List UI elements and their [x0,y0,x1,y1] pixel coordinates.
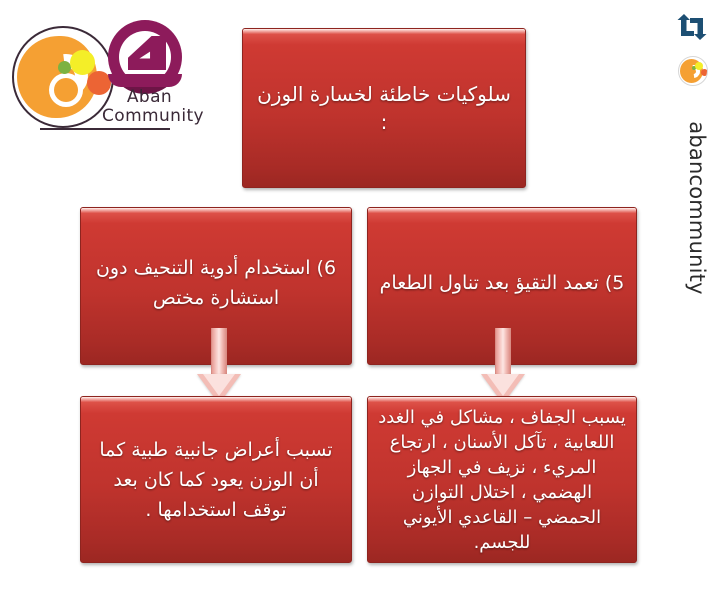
effect-label-item-6: تسبب أعراض جانبية طبية كما أن الوزن يعود… [81,435,351,525]
account-handle[interactable]: abancommunity [685,93,709,323]
retweet-icon[interactable] [674,10,710,44]
logo-dot-yellow-icon [70,50,95,75]
effect-label-item-5: يسبب الجفاف ، مشاكل في الغدد اللعابية ، … [368,405,636,555]
node-label-item-6: 6) استخدام أدوية التنحيف دون استشارة مخت… [81,253,351,313]
avatar[interactable] [678,56,708,86]
slide-canvas: Aban Community abancommunity سلوكيات خاط… [0,0,720,613]
logo-underline [40,128,170,130]
effect-box-item-5: يسبب الجفاف ، مشاكل في الغدد اللعابية ، … [367,396,637,563]
swirl-logo-icon [12,26,114,128]
right-rail: abancommunity [670,6,716,346]
aban-monogram-icon: Aban Community [102,18,194,100]
aban-community-logo: Aban Community [8,12,203,137]
title-box: سلوكيات خاطئة لخسارة الوزن : [242,28,526,188]
down-arrow-icon-left [197,328,241,406]
title-text: سلوكيات خاطئة لخسارة الوزن : [243,80,525,136]
logo-name-line-2: Community [102,107,197,126]
effect-box-item-6: تسبب أعراض جانبية طبية كما أن الوزن يعود… [80,396,352,563]
node-label-item-5: 5) تعمد التقيؤ بعد تناول الطعام [370,268,635,298]
down-arrow-icon-right [481,328,525,406]
logo-name-line-1: Aban [102,88,197,107]
